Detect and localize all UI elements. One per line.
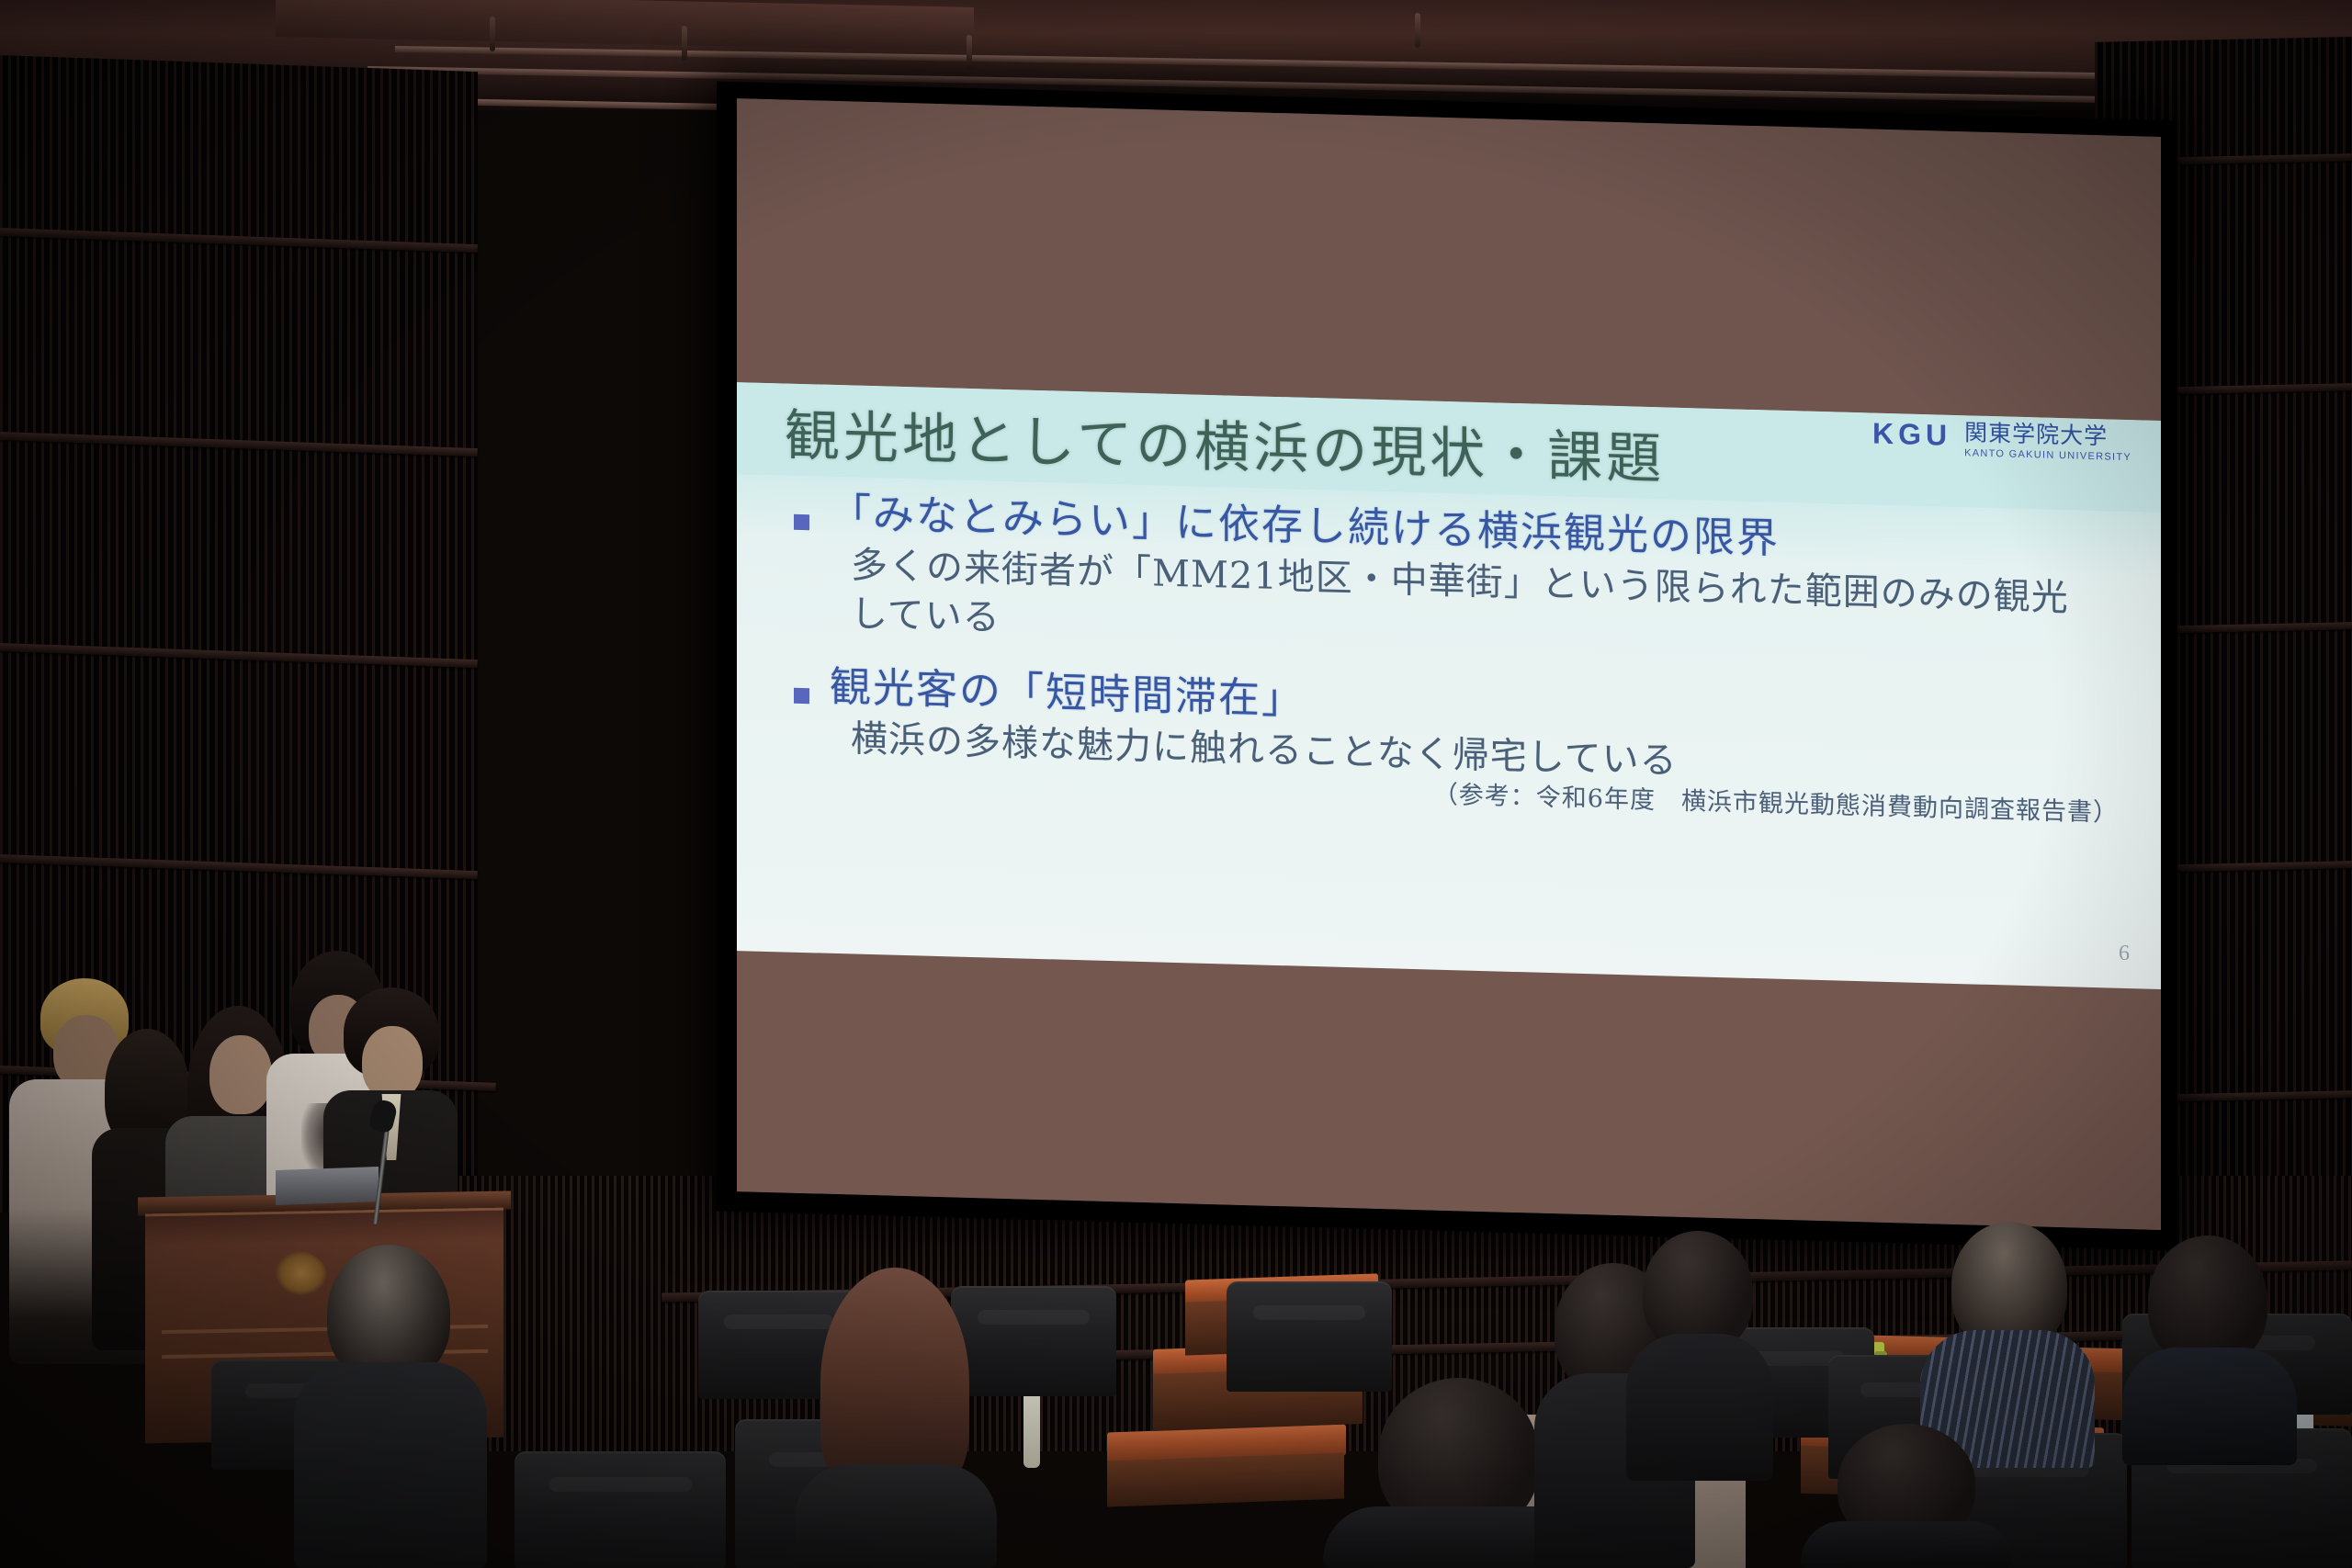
slide-page-number: 6	[2119, 942, 2130, 966]
bullet-1-subtext-line2: している	[851, 592, 1001, 638]
audience-desk-side	[1107, 1452, 1344, 1506]
audience-rear-center	[1626, 1231, 1773, 1506]
university-logo: KGU 関東学院大学 KANTO GAKUIN UNIVERSITY	[1872, 419, 2131, 463]
drink-bottle	[1023, 1393, 1040, 1468]
kgu-logo-names: 関東学院大学 KANTO GAKUIN UNIVERSITY	[1964, 422, 2131, 463]
lecture-hall-room: 観光地としての横浜の現状・課題 KGU 関東学院大学 KANTO GAKUIN …	[0, 0, 2352, 1568]
audience-seat[interactable]	[1227, 1281, 1392, 1392]
kgu-name-japanese: 関東学院大学	[1964, 422, 2131, 450]
ceiling-hook	[490, 17, 495, 51]
bullet-2-heading: 観光客の「短時間滞在」	[830, 663, 1305, 724]
presentation-slide[interactable]: 観光地としての横浜の現状・課題 KGU 関東学院大学 KANTO GAKUIN …	[737, 382, 2161, 989]
ceiling-hook	[967, 35, 972, 70]
ceiling-hook	[682, 26, 687, 61]
ceiling-hook	[1415, 13, 1420, 48]
audience-seat[interactable]	[514, 1451, 726, 1568]
letterbox-bar-bottom	[737, 951, 2161, 1230]
letterbox-bar-top	[737, 98, 2161, 421]
bullet-block-1: 「みなとみらい」に依存し続ける横浜観光の限界 多くの来街者が「MM21地区・中華…	[794, 489, 2124, 673]
kgu-logo-mark: KGU	[1872, 419, 1951, 450]
projection-screen[interactable]: 観光地としての横浜の現状・課題 KGU 関東学院大学 KANTO GAKUIN …	[717, 81, 2177, 1250]
audience-front-center	[294, 1245, 487, 1568]
slide-body: 「みなとみらい」に依存し続ける横浜観光の限界 多くの来街者が「MM21地区・中華…	[737, 474, 2161, 989]
bullet-square-icon	[794, 514, 809, 530]
head	[209, 1035, 272, 1114]
audience-long-hair	[795, 1268, 997, 1568]
screen-surface: 観光地としての横浜の現状・課題 KGU 関東学院大学 KANTO GAKUIN …	[737, 98, 2161, 1230]
bullet-square-icon	[794, 688, 809, 704]
shoulders	[1626, 1334, 1773, 1481]
head	[2148, 1235, 2267, 1366]
head	[362, 1026, 423, 1100]
audience-right-near	[2122, 1235, 2297, 1465]
shoulders	[1801, 1521, 2012, 1568]
shoulders	[2122, 1348, 2297, 1465]
podium-laptop[interactable]	[276, 1167, 379, 1205]
shoulders	[294, 1362, 487, 1568]
audience-right-far	[1801, 1424, 2012, 1568]
shoulders	[795, 1464, 997, 1568]
hair	[820, 1268, 969, 1497]
